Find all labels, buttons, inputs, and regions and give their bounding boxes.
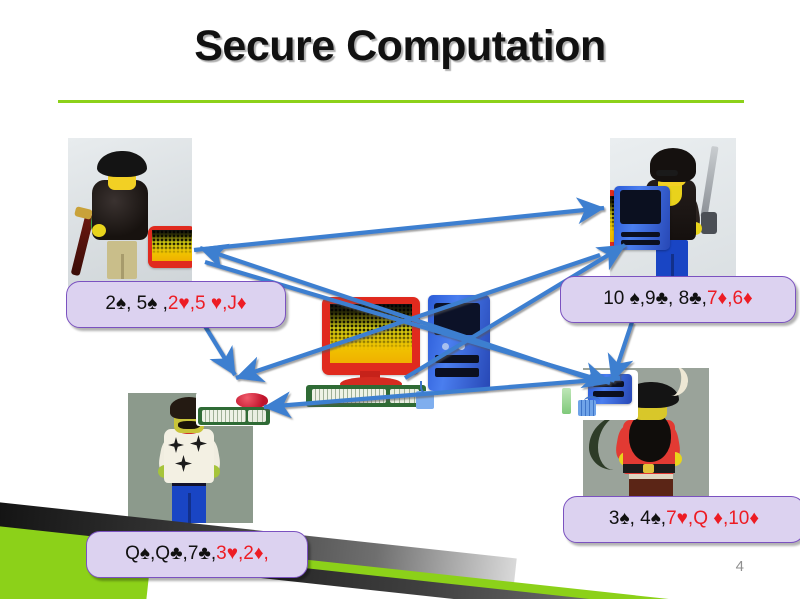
hand-label-bottom-left-black: Q♠,Q♣,7♣, xyxy=(125,543,216,565)
arrow-trlabel-to-tower xyxy=(612,322,632,382)
hand-label-top-right: 10 ♠,9♣, 8♣,7♦,6♦ xyxy=(560,276,796,323)
arrow-tl-to-tr xyxy=(194,208,604,250)
hand-label-top-left-black: 2♠, 5♠ , xyxy=(105,293,167,315)
arrow-right-to-blkeyboard xyxy=(264,378,620,407)
hand-label-top-right-black: 10 ♠,9♣, 8♣, xyxy=(603,288,707,310)
hand-label-bottom-left-red: 3♥,2♦, xyxy=(216,543,269,565)
arrow-tr-to-bl xyxy=(236,255,600,378)
hand-label-top-right-red: 7♦,6♦ xyxy=(707,288,753,310)
slide-canvas: Secure Computation xyxy=(0,0,800,599)
hand-label-top-left: 2♠, 5♠ ,2♥,5 ♥,J♦ xyxy=(66,281,286,328)
hand-label-bottom-right-black: 3♠, 4♠, xyxy=(609,508,666,530)
page-number: 4 xyxy=(736,558,744,575)
hand-label-top-left-red: 2♥,5 ♥,J♦ xyxy=(168,293,247,315)
hand-label-bottom-right-red: 7♥,Q ♦,10♦ xyxy=(666,508,759,530)
hand-label-bottom-right: 3♠, 4♠,7♥,Q ♦,10♦ xyxy=(563,496,800,543)
hand-label-bottom-left: Q♠,Q♣,7♣,3♥,2♦, xyxy=(86,531,308,578)
